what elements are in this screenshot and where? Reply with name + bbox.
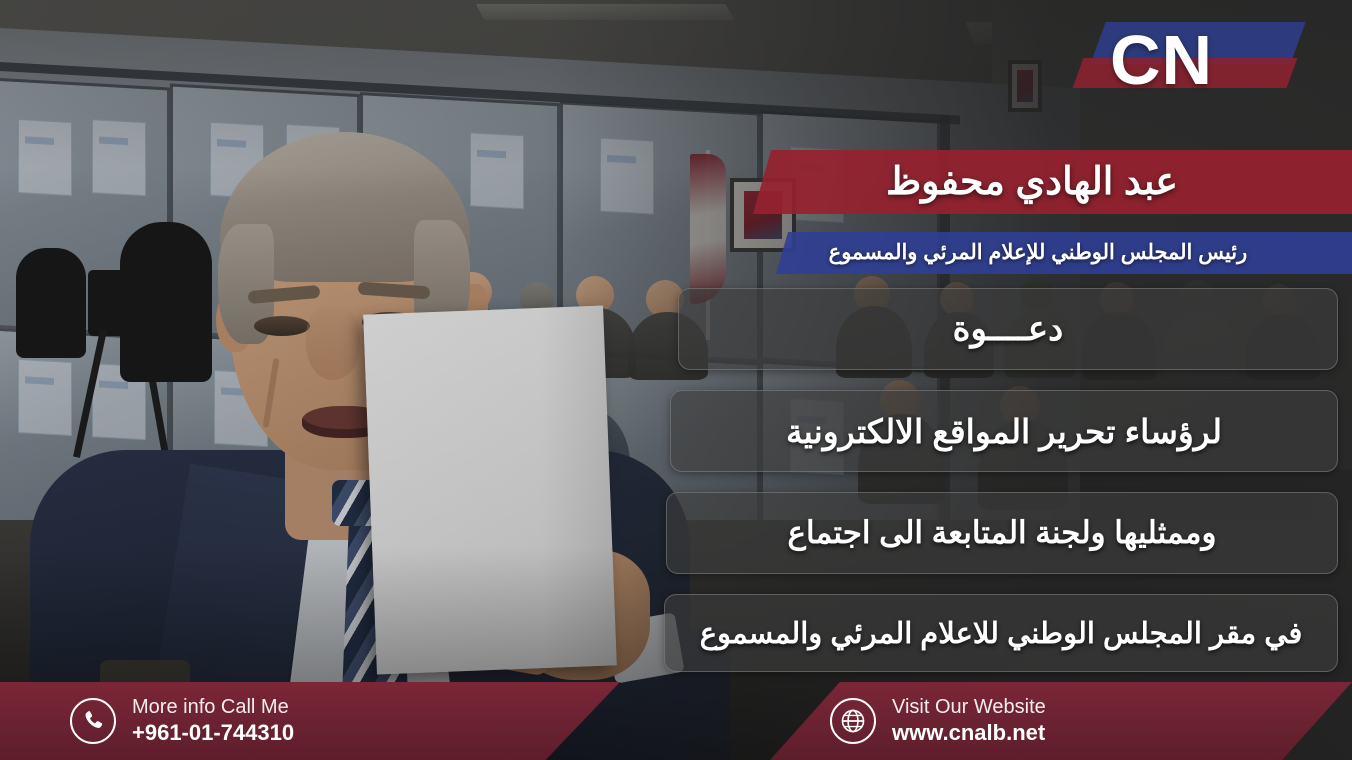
message-box: وممثليها ولجنة المتابعة الى اجتماع [666,492,1338,574]
contact-website-group[interactable]: Visit Our Website www.cnalb.net [830,682,1046,760]
phone-number: +961-01-744310 [132,720,294,746]
message-box: دعــــوة [678,288,1338,370]
phone-text-block: More info Call Me +961-01-744310 [132,696,294,746]
website-label: Visit Our Website [892,696,1046,720]
channel-logo: CN [1084,18,1334,110]
message-box: لرؤساء تحرير المواقع الالكترونية [670,390,1338,472]
speaker-title: رئيس المجلس الوطني للإعلام المرئي والمسم… [758,234,1318,272]
message-box: في مقر المجلس الوطني للاعلام المرئي والم… [664,594,1338,672]
contact-phone-group[interactable]: More info Call Me +961-01-744310 [70,682,294,760]
website-url: www.cnalb.net [892,720,1046,746]
globe-icon [830,698,876,744]
phone-label: More info Call Me [132,696,294,720]
phone-icon [70,698,116,744]
poster-canvas: CN عبد الهادي محفوظ رئيس المجلس الوطني ل… [0,0,1352,760]
website-text-block: Visit Our Website www.cnalb.net [892,696,1046,746]
speaker-name: عبد الهادي محفوظ [752,152,1312,212]
logo-text: CN [1110,14,1213,106]
